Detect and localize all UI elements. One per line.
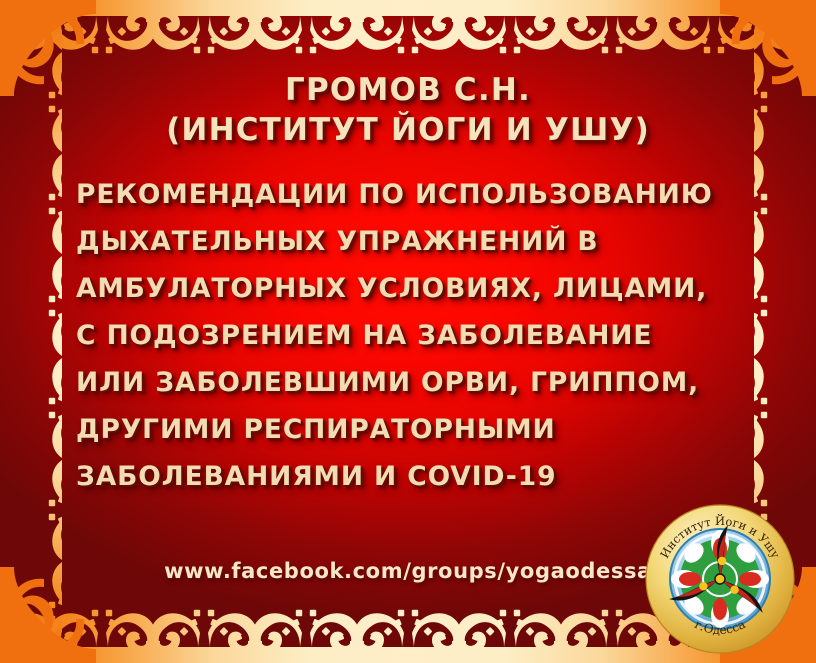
poster-canvas: ГРОМОВ С.Н. (ИНСТИТУТ ЙОГИ И УШУ) РЕКОМЕ… xyxy=(0,0,816,663)
institute-logo: Институт Йоги и Ушу г.Одесса xyxy=(644,503,796,655)
body-line: РЕКОМЕНДАЦИИ ПО ИСПОЛЬЗОВАНИЮ xyxy=(76,171,754,218)
body-line: С ПОДОЗРЕНИЕМ НА ЗАБОЛЕВАНИЕ xyxy=(76,312,754,359)
body-line: ДРУГИМИ РЕСПИРАТОРНЫМИ xyxy=(76,406,754,453)
body-block: РЕКОМЕНДАЦИИ ПО ИСПОЛЬЗОВАНИЮ ДЫХАТЕЛЬНЫ… xyxy=(62,171,754,500)
body-line: АМБУЛАТОРНЫХ УСЛОВИЯХ, ЛИЦАМИ, xyxy=(76,265,754,312)
body-line: ИЛИ ЗАБОЛЕВШИМИ ОРВИ, ГРИППОМ, xyxy=(76,359,754,406)
title-line-author: ГРОМОВ С.Н. xyxy=(62,70,754,110)
body-line: ДЫХАТЕЛЬНЫХ УПРАЖНЕНИЙ В xyxy=(76,218,754,265)
body-line: ЗАБОЛЕВАНИЯМИ И COVID-19 xyxy=(76,453,754,500)
title-line-institute: (ИНСТИТУТ ЙОГИ И УШУ) xyxy=(62,110,754,150)
title-block: ГРОМОВ С.Н. (ИНСТИТУТ ЙОГИ И УШУ) xyxy=(62,70,754,151)
